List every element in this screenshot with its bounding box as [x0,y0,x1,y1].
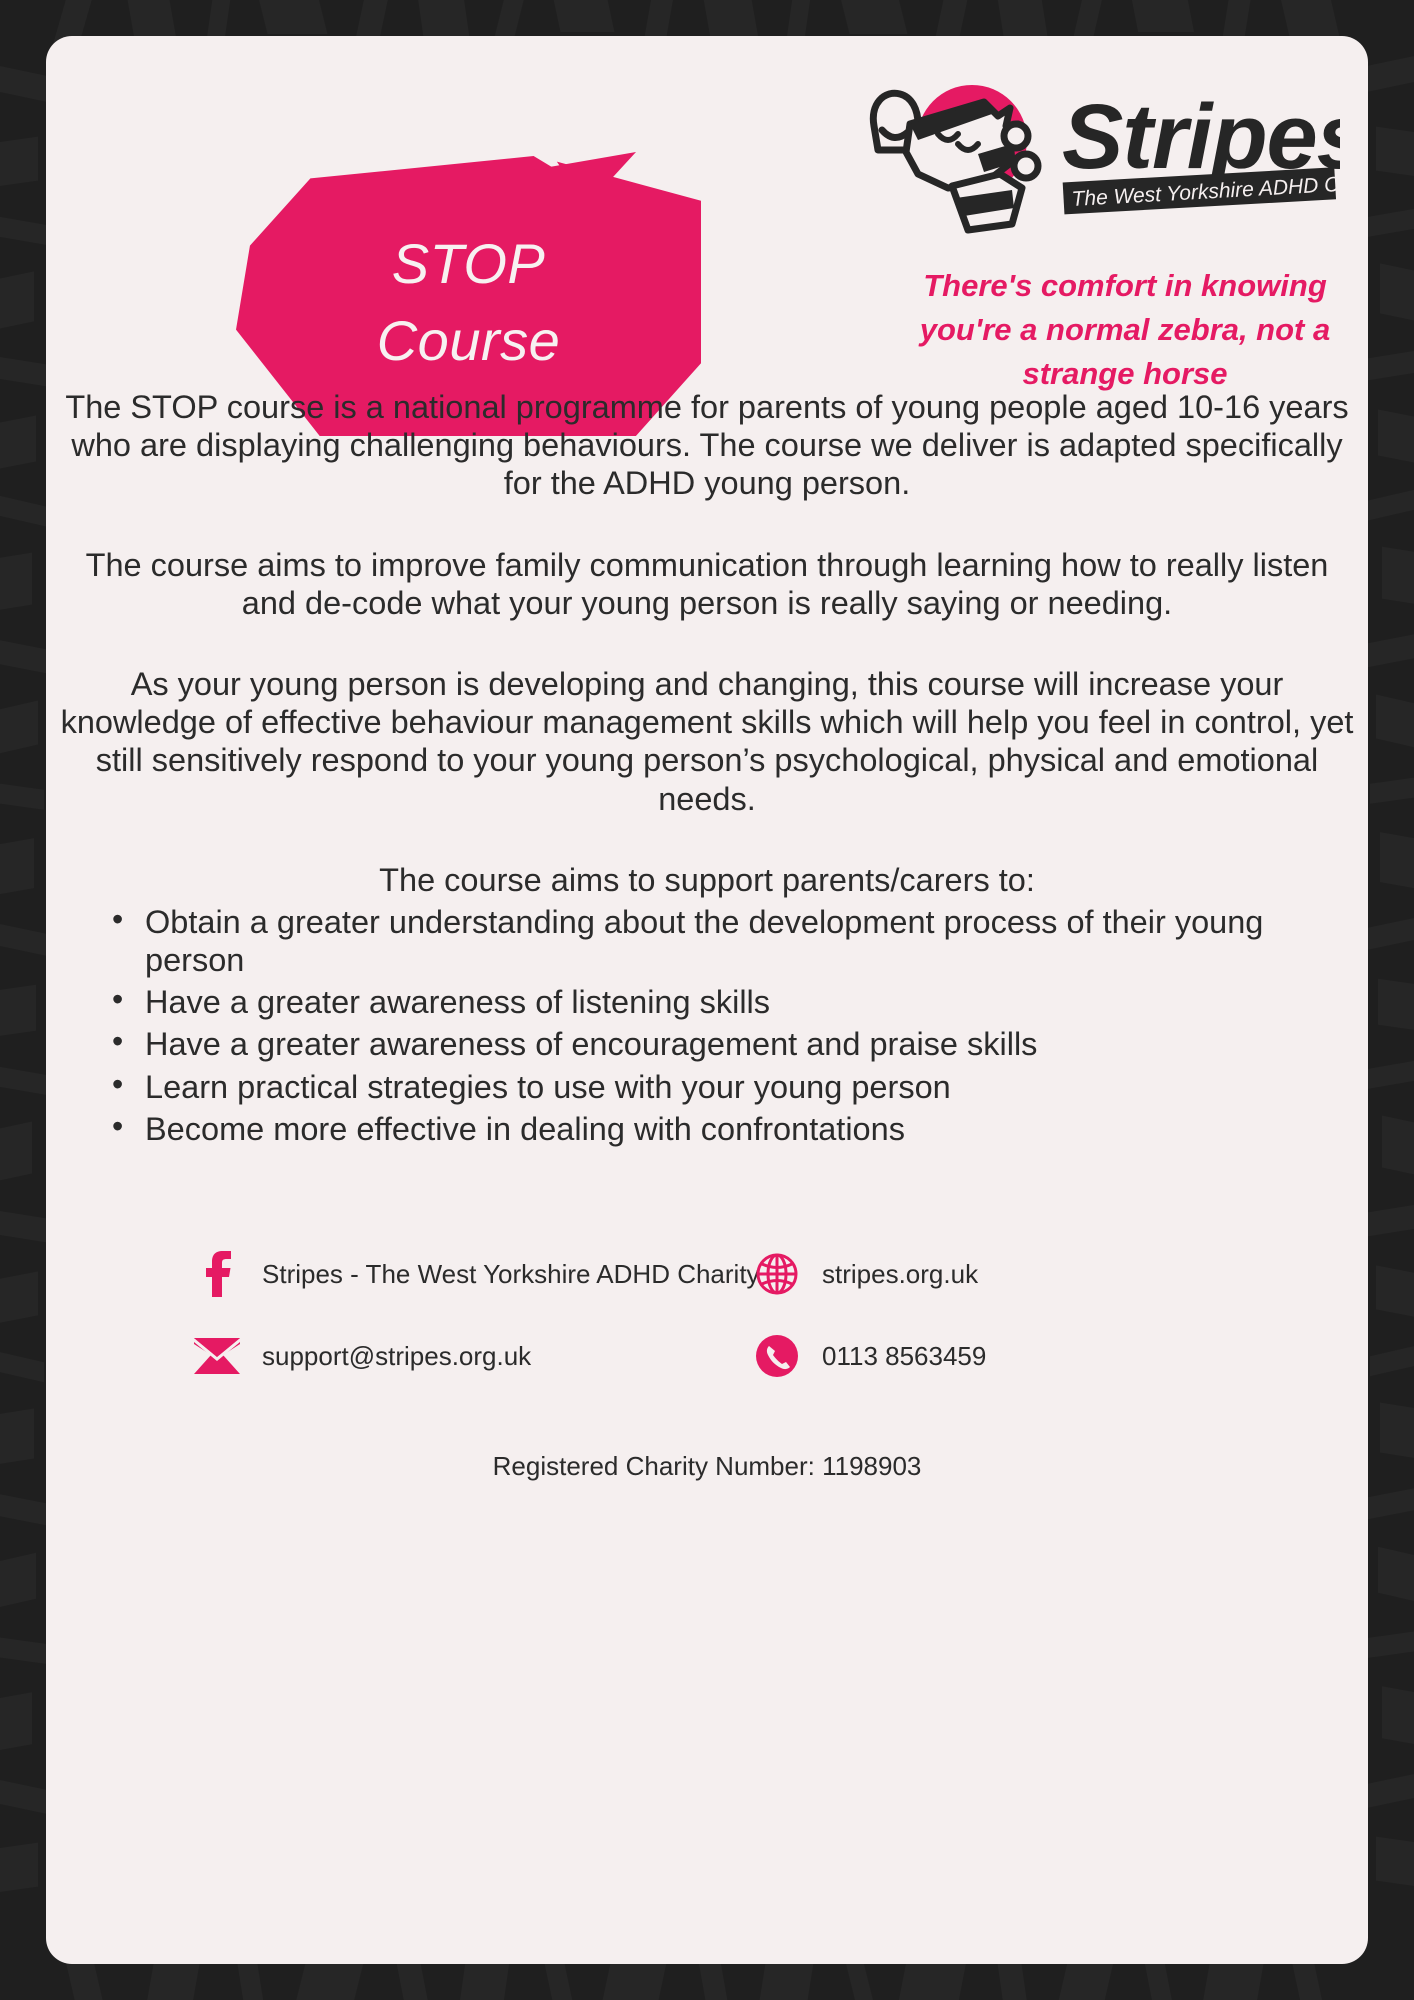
globe-icon [754,1251,800,1297]
contact-email[interactable]: support@stripes.org.uk [194,1333,754,1379]
list-item: Obtain a greater understanding about the… [108,903,1354,979]
aims-list: Obtain a greater understanding about the… [108,903,1354,1148]
zebra-head-logo-icon [860,78,1060,248]
phone-icon [754,1333,800,1379]
contact-website-text: stripes.org.uk [822,1260,978,1289]
poster-content: STOP Course [46,36,1368,1964]
list-item: Have a greater awareness of listening sk… [108,983,1354,1021]
contact-website[interactable]: stripes.org.uk [754,1251,1368,1297]
stripes-wordmark: Stripes The West Yorkshire ADHD Charity [1060,78,1340,248]
poster-body: The STOP course is a national programme … [46,388,1368,1152]
envelope-icon [194,1333,240,1379]
badge-line-2: Course [377,302,561,379]
contact-phone[interactable]: 0113 8563459 [754,1333,1368,1379]
list-item: Learn practical strategies to use with y… [108,1068,1354,1106]
list-item: Become more effective in dealing with co… [108,1110,1354,1148]
contact-facebook[interactable]: Stripes - The West Yorkshire ADHD Charit… [194,1251,754,1297]
poster: STOP Course [0,0,1414,2000]
facebook-icon [194,1251,240,1297]
contact-block: Stripes - The West Yorkshire ADHD Charit… [46,1251,1368,1379]
aims-heading: The course aims to support parents/carer… [60,861,1354,899]
list-item: Have a greater awareness of encouragemen… [108,1025,1354,1063]
contact-phone-text: 0113 8563459 [822,1342,986,1371]
stripes-logo: Stripes The West Yorkshire ADHD Charity [860,78,1340,263]
paragraph-aims: The course aims to improve family commun… [60,546,1354,622]
contact-facebook-text: Stripes - The West Yorkshire ADHD Charit… [262,1260,760,1289]
zebra-tagline: There's comfort in knowing you're a norm… [910,264,1340,396]
paragraph-development: As your young person is developing and c… [60,665,1354,818]
contact-email-text: support@stripes.org.uk [262,1342,531,1371]
badge-line-1: STOP [392,225,545,302]
paragraph-intro: The STOP course is a national programme … [60,388,1354,503]
charity-number: Registered Charity Number: 1198903 [46,1451,1368,1482]
